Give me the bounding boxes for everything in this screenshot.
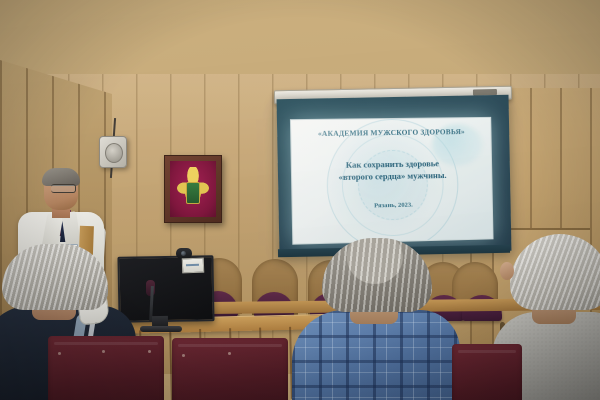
seat-rivet [228, 352, 231, 355]
seat-rivet [58, 352, 61, 355]
monitor-label-tag [182, 258, 205, 274]
audience-member-center [292, 238, 460, 400]
foreground-seat[interactable] [48, 336, 164, 400]
slide-body: Как сохранить здоровье «второго сердца» … [292, 156, 492, 184]
wall-speaker-icon [99, 136, 127, 168]
projected-slide: «АКАДЕМИЯ МУЖСКОГО ЗДОРОВЬЯ» Как сохрани… [290, 117, 494, 245]
coat-of-arms-frame [164, 155, 222, 223]
seat-rivet [148, 350, 151, 353]
glasses-icon [51, 184, 76, 193]
coat-of-arms-icon [173, 167, 213, 211]
seat-rivet [182, 354, 185, 357]
lecture-hall-photo: «АКАДЕМИЯ МУЖСКОГО ЗДОРОВЬЯ» Как сохрани… [0, 0, 600, 400]
monitor-base [140, 326, 182, 332]
audience-right-ear [500, 262, 514, 280]
foreground-seat[interactable] [172, 338, 288, 400]
slide-body-line-2: «второго сердца» мужчины. [292, 168, 491, 184]
audience-left-hair [2, 244, 108, 310]
coat-of-arms-field [170, 161, 216, 217]
audience-center-hair [322, 238, 432, 312]
seat-rivet [102, 350, 105, 353]
foreground-seat[interactable] [452, 344, 522, 400]
audience-right-hair [510, 234, 600, 310]
